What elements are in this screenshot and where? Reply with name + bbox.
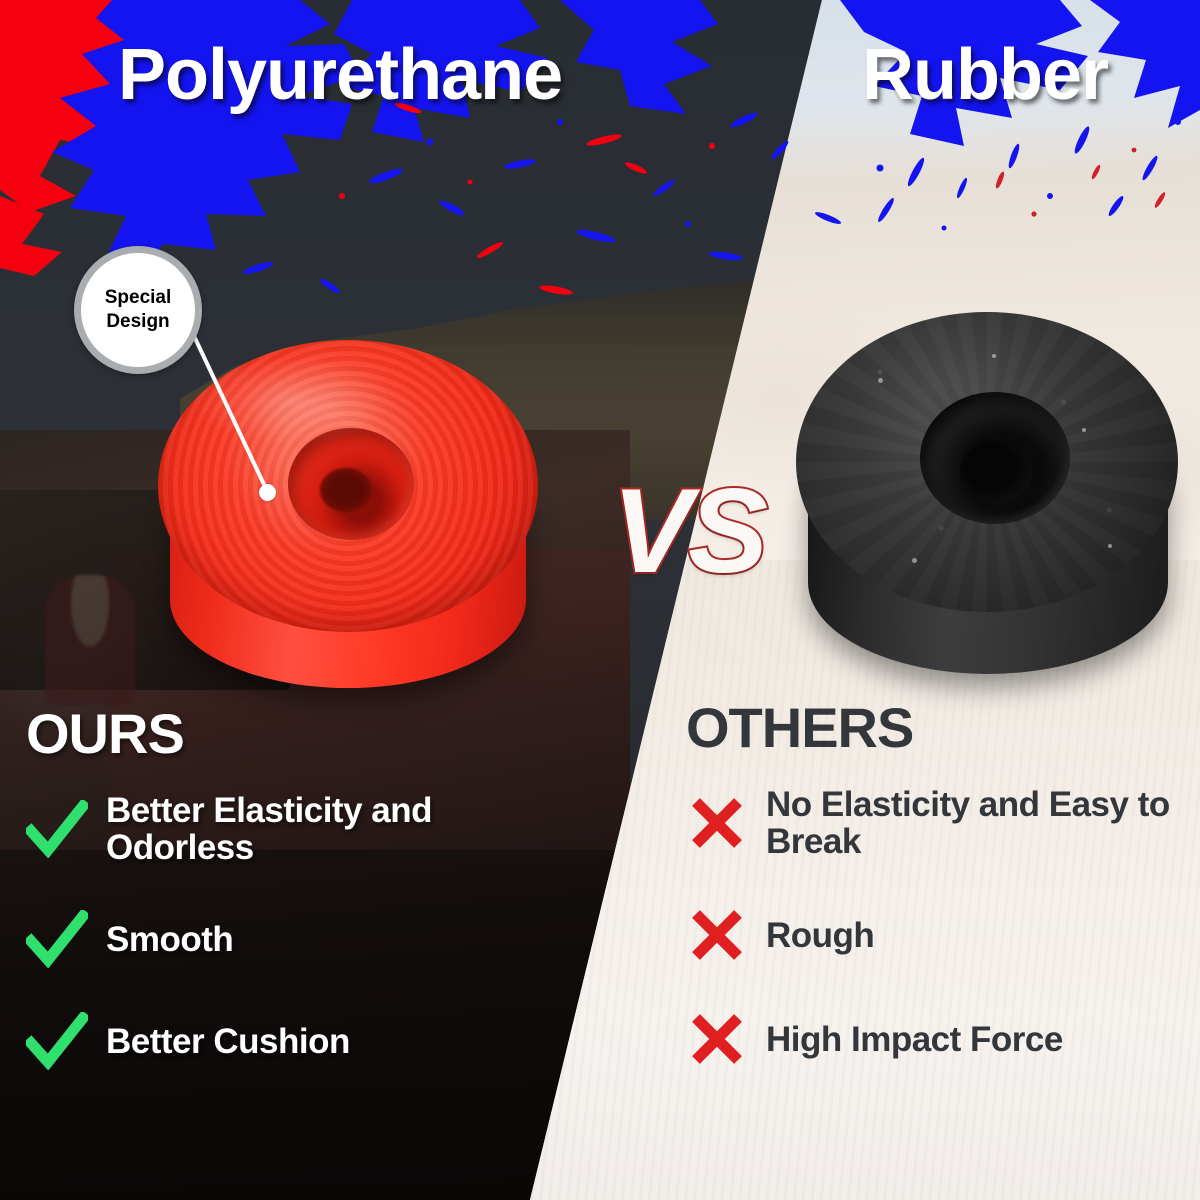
rubber-speck bbox=[1108, 544, 1112, 548]
versus-label: VS bbox=[612, 462, 764, 600]
rubber-speck bbox=[1082, 428, 1086, 432]
others-heading: OTHERS bbox=[686, 700, 1186, 756]
cross-icon bbox=[686, 794, 748, 852]
red-polyurethane-bushing bbox=[152, 336, 544, 692]
list-item: Rough bbox=[686, 906, 1186, 964]
list-item: Smooth bbox=[26, 910, 586, 968]
special-design-badge: Special Design bbox=[74, 246, 202, 374]
bushing-highlight bbox=[192, 356, 392, 446]
rubber-speck bbox=[992, 354, 996, 358]
badge-line-2: Design bbox=[106, 310, 169, 334]
rubber-speck bbox=[912, 558, 917, 563]
list-item: High Impact Force bbox=[686, 1010, 1186, 1068]
list-item-label: High Impact Force bbox=[766, 1021, 1063, 1058]
list-item-label: No Elasticity and Easy to Break bbox=[766, 786, 1186, 860]
list-item-label: Rough bbox=[766, 917, 874, 954]
cross-icon bbox=[686, 906, 748, 964]
ours-column: OURS Better Elasticity and Odorless Smoo… bbox=[26, 706, 586, 1114]
badge-line-1: Special bbox=[105, 286, 172, 310]
ours-heading: OURS bbox=[26, 706, 586, 762]
list-item-label: Smooth bbox=[106, 921, 233, 958]
list-item-label: Better Elasticity and Odorless bbox=[106, 792, 586, 866]
rubber-speck bbox=[878, 378, 883, 383]
check-icon bbox=[26, 910, 88, 968]
list-item: Better Elasticity and Odorless bbox=[26, 792, 586, 866]
list-item-label: Better Cushion bbox=[106, 1023, 350, 1060]
others-column: OTHERS No Elasticity and Easy to Break R… bbox=[686, 700, 1186, 1114]
check-icon bbox=[26, 800, 88, 858]
callout-anchor-dot bbox=[259, 484, 276, 501]
page-title-right: Rubber bbox=[862, 34, 1108, 116]
comparison-infographic: Polyurethane Rubber Special Design VS OU… bbox=[0, 0, 1200, 1200]
rubber-bore-hole bbox=[960, 440, 1032, 504]
check-icon bbox=[26, 1012, 88, 1070]
cross-icon bbox=[686, 1010, 748, 1068]
page-title-left: Polyurethane bbox=[118, 34, 562, 116]
list-item: No Elasticity and Easy to Break bbox=[686, 786, 1186, 860]
bushing-bore-hole bbox=[320, 468, 372, 512]
black-rubber-bushing bbox=[792, 308, 1184, 682]
list-item: Better Cushion bbox=[26, 1012, 586, 1070]
